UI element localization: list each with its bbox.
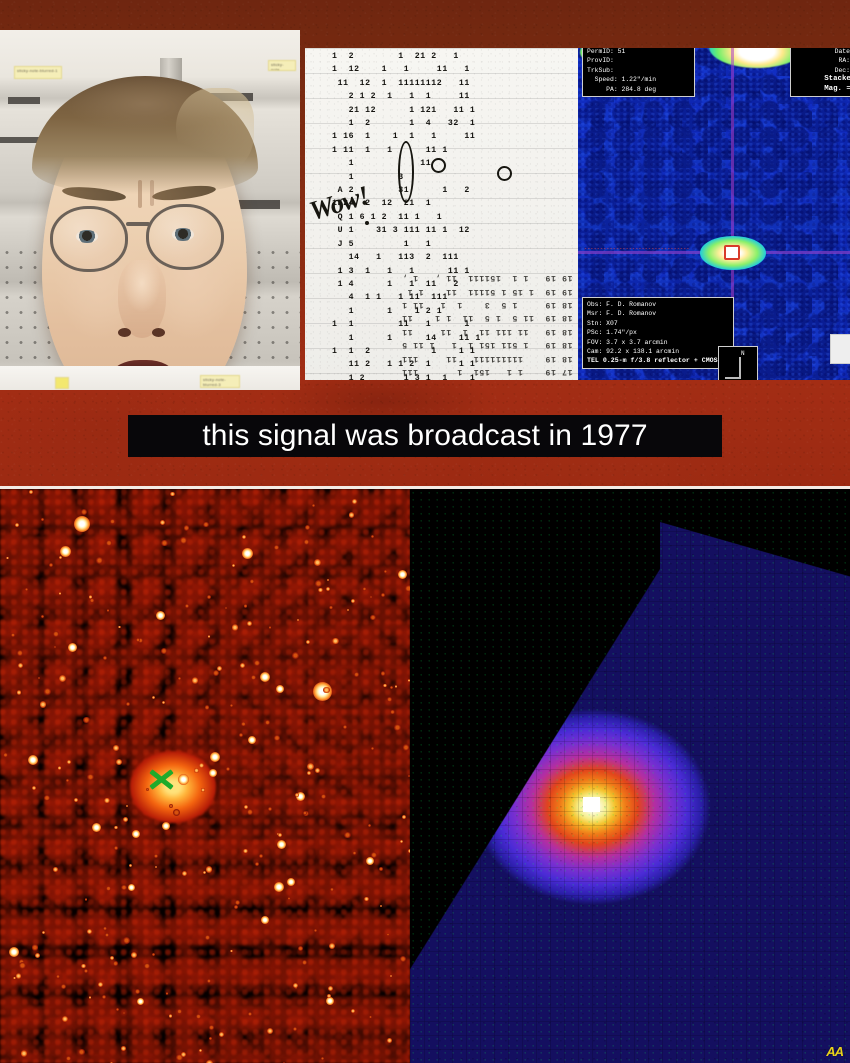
star-point <box>321 1057 324 1060</box>
star-point <box>110 519 115 524</box>
star-point <box>3 753 8 758</box>
star-point <box>354 672 359 677</box>
star-point <box>178 677 181 680</box>
star-point <box>17 650 23 656</box>
wow-signal-printout-panel: 1 2 1 21 2 1 1 12 1 1 11 1 11 12 1 11111… <box>305 48 578 380</box>
star-point <box>136 638 140 642</box>
star-point <box>121 885 127 891</box>
star-point <box>185 604 189 608</box>
star-point <box>104 798 109 803</box>
telescope-capture-panel: --------------------------------- PermID… <box>578 48 850 380</box>
star-point <box>60 546 71 557</box>
sticky-note: sticky-note-blurred-2 <box>268 60 296 71</box>
star-point <box>74 798 78 802</box>
star-point <box>259 854 263 858</box>
star-point <box>371 852 377 858</box>
radio-intensity-map-panel: AA <box>410 489 850 1063</box>
star-point <box>207 595 211 599</box>
axis-tick-label: 1 <box>578 284 579 291</box>
nose <box>118 260 166 338</box>
star-point <box>32 786 36 790</box>
star-point <box>9 947 19 957</box>
star-point <box>379 867 383 871</box>
star-point <box>207 979 211 983</box>
star-point <box>276 685 284 693</box>
wow-annotation-dot <box>365 221 369 225</box>
star-point <box>277 840 286 849</box>
star-point <box>123 937 130 944</box>
star-point <box>113 961 117 965</box>
star-point <box>369 1016 371 1018</box>
star-point <box>398 570 407 579</box>
star-point <box>162 822 170 830</box>
star-point <box>390 710 395 715</box>
star-point <box>326 997 334 1005</box>
star-point <box>315 768 320 773</box>
star-point <box>244 805 247 808</box>
star-point <box>81 964 86 969</box>
star-point <box>102 995 106 999</box>
star-point <box>315 580 322 587</box>
star-point <box>40 701 46 707</box>
star-point <box>96 557 103 564</box>
star-point <box>402 815 406 819</box>
star-point <box>403 744 409 750</box>
star-point <box>113 745 118 750</box>
target-object-box <box>724 245 740 260</box>
star-point <box>59 675 66 682</box>
eyeglass-bridge <box>126 222 150 226</box>
star-point <box>144 963 150 969</box>
star-point <box>304 539 309 544</box>
star-point <box>121 1046 125 1050</box>
star-point <box>242 548 253 559</box>
star-point <box>241 722 245 726</box>
hud-line: FOV: 3.7 x 3.7 arcmin <box>587 338 729 347</box>
star-point <box>173 809 180 816</box>
star-point <box>74 516 90 532</box>
star-point <box>126 702 130 706</box>
star-point <box>351 1009 355 1013</box>
sticky-note: sticky-note-blurred-1 <box>14 66 62 79</box>
star-point <box>314 929 317 932</box>
star-point <box>400 956 406 962</box>
compass-needle-vertical <box>739 357 741 379</box>
star-point <box>177 1009 182 1014</box>
star-point <box>128 884 135 891</box>
star-point <box>287 878 295 886</box>
hud-line: PSc: 1.74"/px <box>587 328 729 337</box>
star-point <box>260 672 270 682</box>
star-point <box>351 599 355 603</box>
compass-needle-horizontal <box>725 377 741 379</box>
star-point <box>371 535 374 538</box>
star-point <box>123 817 128 822</box>
star-point <box>209 769 217 777</box>
star-point <box>54 646 56 648</box>
hud-line: RA: 14 21 <box>795 56 850 65</box>
noise-speckle-overlay <box>410 489 850 1063</box>
star-point <box>6 557 8 559</box>
star-point <box>178 774 189 785</box>
star-point <box>240 663 245 668</box>
hud-top-left: PermID: 51 ProvID: TrkSub: Speed: 1.22"/… <box>582 48 695 97</box>
hud-line: Dec: -10 3 <box>795 66 850 75</box>
star-point <box>66 1056 71 1061</box>
star-point <box>28 755 38 765</box>
star-point <box>25 588 28 591</box>
star-point <box>292 652 299 659</box>
star-point <box>103 656 107 660</box>
star-point <box>116 1008 119 1011</box>
eye-right <box>172 228 194 241</box>
star-point <box>209 1025 214 1030</box>
star-point <box>314 559 321 566</box>
star-point <box>380 905 382 907</box>
hud-line: TEL 0.25-m f/3.8 reflector + CMOS <box>587 356 729 365</box>
star-point <box>67 760 71 764</box>
star-point <box>239 733 243 737</box>
green-x-target-marker <box>146 764 176 794</box>
star-point <box>352 499 357 504</box>
star-point <box>261 916 269 924</box>
star-point <box>196 1014 201 1019</box>
star-point <box>364 897 368 901</box>
star-point <box>370 615 375 620</box>
white-shirt <box>0 366 300 390</box>
frown-line <box>138 180 142 208</box>
star-point <box>230 950 233 953</box>
star-point <box>132 830 140 838</box>
star-point <box>394 724 401 731</box>
star-point <box>383 684 386 687</box>
hud-compass-inset: N <box>718 346 758 380</box>
star-point <box>329 606 332 609</box>
star-point <box>278 833 282 837</box>
star-point <box>232 624 239 631</box>
subtitle-caption-bar: this signal was broadcast in 1977 <box>128 415 722 457</box>
star-point <box>137 998 144 1005</box>
star-point <box>199 763 204 768</box>
video-frame-top: sticky-note-blurred-1 sticky-note-blurre… <box>0 0 850 489</box>
hud-thumbnail-inset <box>830 334 850 364</box>
axis-tick-label: 1 <box>578 90 579 97</box>
hud-line: Msr: F. D. Romanov <box>587 309 729 318</box>
star-point <box>152 953 155 956</box>
star-point <box>114 846 117 849</box>
star-point <box>274 545 279 550</box>
star-point <box>330 888 334 892</box>
shelf-bracket <box>8 97 40 104</box>
hud-line: Mag. = 12.5 <box>795 85 850 94</box>
star-point <box>248 736 256 744</box>
nostril-left <box>118 328 131 337</box>
star-point <box>210 752 220 762</box>
caption-text: this signal was broadcast in 1977 <box>202 419 647 453</box>
star-point <box>114 826 118 830</box>
star-point <box>384 570 387 573</box>
hud-bottom-left: Obs: F. D. RomanovMsr: F. D. RomanovStn:… <box>582 297 734 369</box>
sticky-note <box>55 377 69 389</box>
star-point <box>219 1032 224 1037</box>
star-point <box>44 688 51 695</box>
star-point <box>42 931 45 934</box>
star-point <box>192 677 198 683</box>
hud-line: Stacked 3x6 <box>795 75 850 84</box>
talking-head-webcam-panel: sticky-note-blurred-1 sticky-note-blurre… <box>0 30 300 390</box>
star-point <box>235 900 240 905</box>
star-point <box>318 588 322 592</box>
star-point <box>41 518 43 520</box>
star-point <box>366 857 374 865</box>
star-point <box>205 705 210 710</box>
star-field-heatmap-panel <box>0 489 410 1063</box>
star-point <box>387 697 392 702</box>
star-point <box>89 996 92 999</box>
star-point <box>274 882 284 892</box>
compass-north-label: N <box>741 349 745 358</box>
star-point <box>169 1014 172 1017</box>
star-point <box>205 935 210 940</box>
star-point <box>68 643 77 652</box>
star-point <box>234 905 238 909</box>
star-point <box>326 587 330 591</box>
circled-6equj5-ellipse <box>398 141 414 203</box>
star-point <box>87 774 93 780</box>
frown-line <box>150 180 154 206</box>
star-point <box>387 1038 392 1043</box>
star-point <box>154 854 158 858</box>
star-point <box>29 490 32 493</box>
circled-digit-6 <box>431 158 446 173</box>
hud-line: Stn: X07 <box>587 319 729 328</box>
star-point <box>307 763 314 770</box>
star-point <box>81 509 87 515</box>
star-point <box>16 973 21 978</box>
star-point <box>17 690 21 694</box>
eye-left <box>76 230 98 243</box>
aa-watermark: AA <box>826 1044 843 1059</box>
star-point <box>83 717 89 723</box>
sticky-note: sticky-note-blurred-3 <box>200 375 240 388</box>
star-point <box>243 849 248 854</box>
star-point <box>19 962 26 969</box>
hud-line: Cam: 92.2 x 138.1 arcmin <box>587 347 729 356</box>
star-point <box>87 929 92 934</box>
star-point <box>53 867 57 871</box>
star-point <box>247 621 252 626</box>
star-point <box>371 747 374 750</box>
circled-digit-7 <box>497 166 512 181</box>
star-point <box>180 537 186 543</box>
hud-line: Date: 2023 <box>795 48 850 56</box>
nostril-right <box>152 328 165 337</box>
video-frame-bottom: AA <box>0 489 850 1063</box>
hud-top-right: Date: 2023RA: 14 21Dec: -10 3Stacked 3x6… <box>790 48 850 97</box>
printout-digit-grid-inverted: 17 19 1 1 151 1 111 18 19 111111111 11 1… <box>305 288 578 380</box>
axis-tick-label: 2 <box>578 188 579 195</box>
star-point <box>116 759 122 765</box>
peak-intensity-pixel <box>583 797 600 812</box>
star-point <box>203 522 208 527</box>
star-point <box>156 611 165 620</box>
star-point <box>32 944 38 950</box>
star-point <box>390 686 393 689</box>
star-point <box>381 671 385 675</box>
star-point <box>85 898 87 900</box>
star-point <box>368 824 371 827</box>
red-annotation-line: --------------------------------- <box>584 246 690 252</box>
hud-line: Obs: F. D. Romanov <box>587 300 729 309</box>
star-point <box>92 823 101 832</box>
star-point <box>381 593 385 597</box>
star-point <box>332 638 339 645</box>
star-point <box>21 1050 27 1056</box>
star-point <box>66 779 69 782</box>
star-point <box>395 685 397 687</box>
star-point <box>209 1037 212 1040</box>
star-point <box>106 886 111 891</box>
